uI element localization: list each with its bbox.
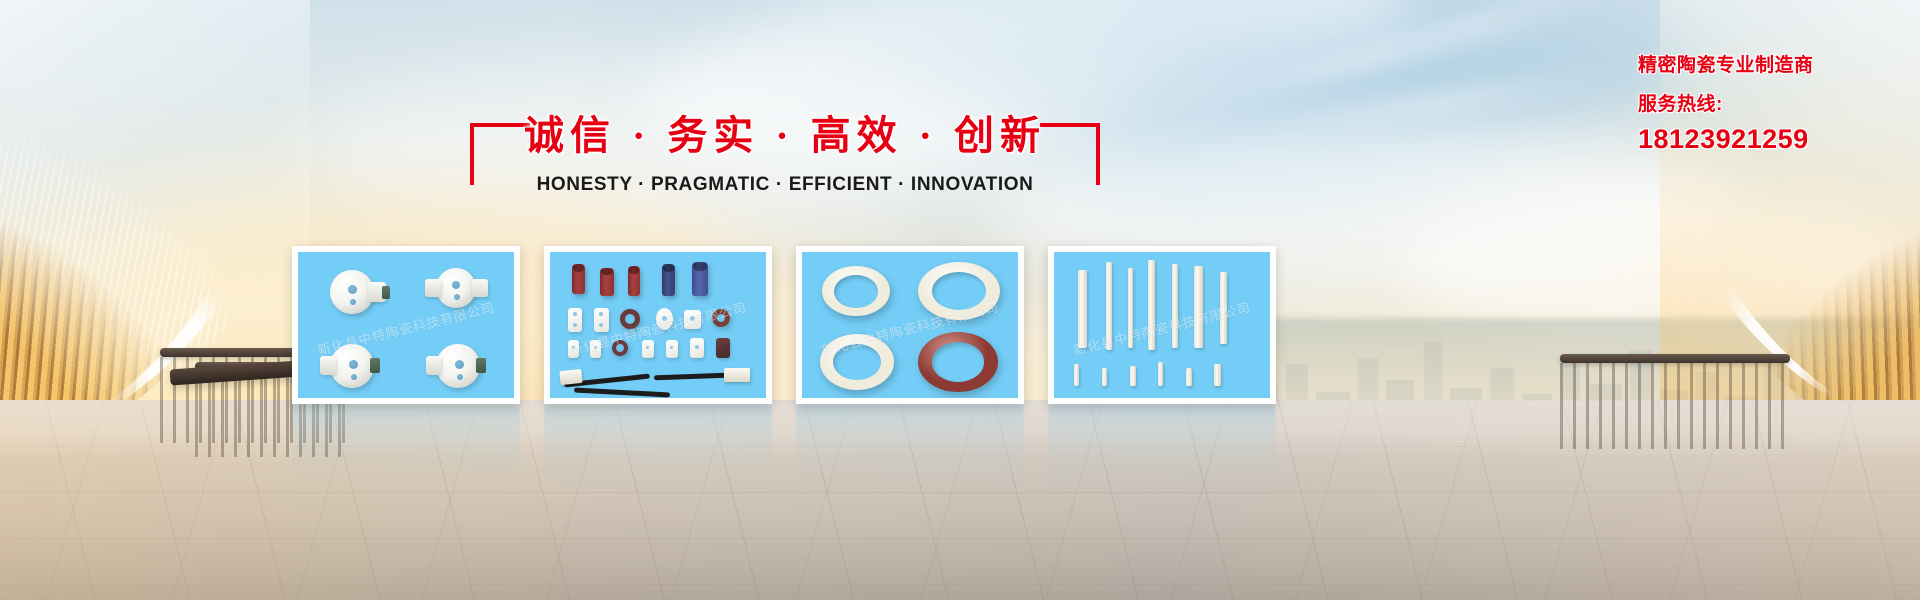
ceramic-chip xyxy=(716,338,730,358)
holder-tab xyxy=(426,356,441,375)
lead-wire xyxy=(574,387,670,397)
ceramic-rod xyxy=(1220,272,1227,344)
ceramic-rod xyxy=(1172,264,1178,348)
holder-contact xyxy=(370,358,380,373)
ceramic-plate xyxy=(568,308,582,332)
banner-stage: 诚信 · 务实 · 高效 · 创新 HONESTY · PRAGMATIC · … xyxy=(0,0,1920,600)
ceramic-rod xyxy=(1106,262,1112,350)
ceramic-rod-short xyxy=(1102,368,1107,386)
ceramic-ring xyxy=(712,309,730,327)
company-tagline: 精密陶瓷专业制造商 xyxy=(1638,52,1868,80)
panel-reflection xyxy=(796,404,1024,496)
ceramic-rod-short xyxy=(1186,368,1192,386)
ceramic-rod xyxy=(1194,266,1203,348)
holder-contact xyxy=(476,358,486,373)
ceramic-tube xyxy=(628,266,640,296)
ceramic-chip xyxy=(666,340,678,358)
ceramic-plate xyxy=(684,310,701,329)
product-panel-ceramic-lamp-holders[interactable]: 新化县中特陶瓷科技有限公司 xyxy=(292,246,520,404)
ceramic-ring xyxy=(612,340,628,356)
lead-wire xyxy=(654,373,728,381)
ceramic-chip xyxy=(568,340,579,358)
slogan-block: 诚信 · 务实 · 高效 · 创新 HONESTY · PRAGMATIC · … xyxy=(470,105,1100,205)
ceramic-rod-short xyxy=(1074,364,1079,386)
ceramic-lamp-holder xyxy=(436,344,480,388)
product-panel-ceramic-rings[interactable]: 新化县中特陶瓷科技有限公司 xyxy=(796,246,1024,404)
ceramic-lamp-holder xyxy=(330,344,374,388)
hotline-label: 服务热线: xyxy=(1638,88,1868,122)
ceramic-ring xyxy=(620,309,640,329)
product-panel-row: 新化县中特陶瓷科技有限公司 xyxy=(292,246,1276,404)
slogan-english: HONESTY · PRAGMATIC · EFFICIENT · INNOVA… xyxy=(470,171,1100,199)
ceramic-ring-red xyxy=(918,332,998,392)
ceramic-tube xyxy=(572,264,585,294)
cloud xyxy=(1071,0,1709,243)
ceramic-tube xyxy=(662,264,675,296)
ceramic-rod-short xyxy=(1130,366,1136,386)
hotline-number[interactable]: 18123921259 xyxy=(1638,122,1868,156)
railing-posts xyxy=(1560,363,1790,449)
balcony-railing-right xyxy=(1560,344,1790,454)
holder-tab xyxy=(472,279,488,297)
ceramic-lamp-holder xyxy=(436,268,476,308)
ceramic-tube xyxy=(600,268,614,296)
wire-connector xyxy=(559,369,582,385)
railing-handrail xyxy=(1560,354,1790,363)
ceramic-rod xyxy=(1148,260,1155,350)
ceramic-ring-large xyxy=(918,262,1000,320)
panel-reflection xyxy=(1048,404,1276,496)
holder-tab xyxy=(320,356,336,375)
ceramic-rod-short xyxy=(1158,362,1163,386)
ceramic-chip xyxy=(690,338,704,358)
ceramic-ring-large xyxy=(820,334,894,390)
ceramic-chip xyxy=(642,340,654,358)
ceramic-plate xyxy=(594,308,609,332)
wire-connector xyxy=(724,368,750,382)
product-panel-ceramic-rods[interactable]: 新化县中特陶瓷科技有限公司 xyxy=(1048,246,1276,404)
ceramic-ring-large xyxy=(822,266,890,316)
contact-block: 精密陶瓷专业制造商 服务热线: 18123921259 xyxy=(1638,52,1868,156)
ceramic-rod xyxy=(1078,270,1087,348)
ceramic-rod-short xyxy=(1214,364,1221,386)
panel-reflection xyxy=(544,404,772,496)
ceramic-disc xyxy=(656,308,673,330)
panel-reflection xyxy=(292,404,520,496)
product-panel-ceramic-tubes[interactable]: 新化县中特陶瓷科技有限公司 xyxy=(544,246,772,404)
ceramic-tube xyxy=(692,262,708,296)
ceramic-chip xyxy=(590,340,601,358)
holder-tab xyxy=(425,279,441,297)
slogan-chinese: 诚信 · 务实 · 高效 · 创新 xyxy=(470,105,1100,167)
ceramic-rod xyxy=(1128,268,1133,348)
holder-contact xyxy=(382,286,390,299)
